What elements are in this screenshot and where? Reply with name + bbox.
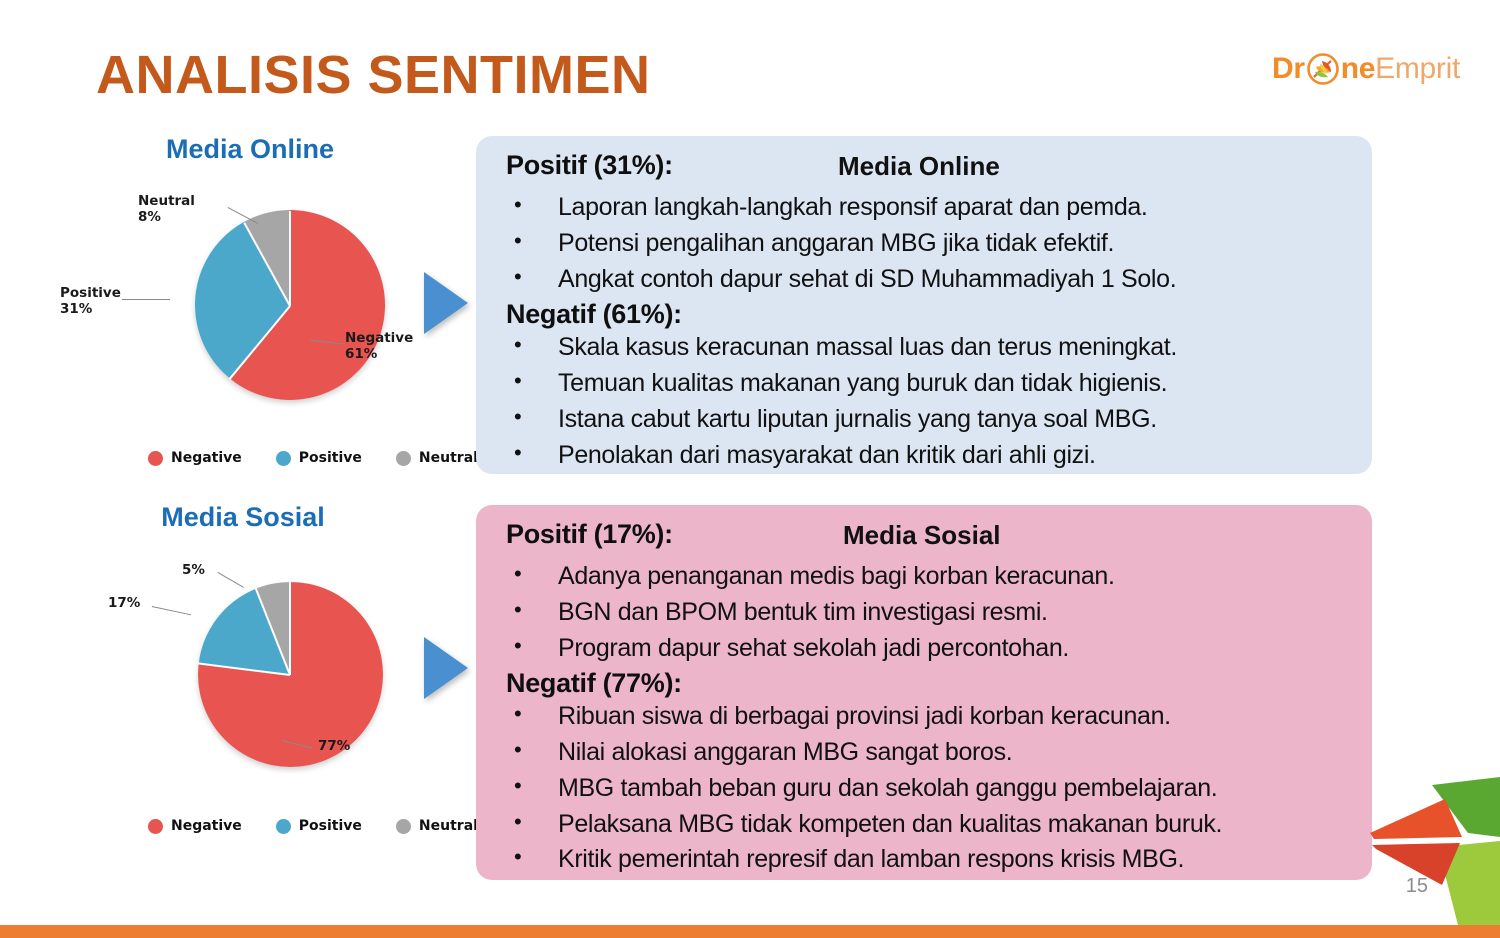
legend-dot-neutral [396,819,411,834]
bottom-accent-bar [0,925,1500,938]
logo-text-emprit: Emprit [1375,52,1460,86]
chart-title-media-sosial: Media Sosial [78,502,408,533]
panel-media-sosial: Positif (17%): Media Sosial Adanya penan… [476,505,1372,880]
legend-label-positive: Positive [299,818,362,834]
list-item: Kritik pemerintah represif dan lamban re… [498,842,1350,878]
legend-label-neutral: Neutral [419,818,478,834]
legend-dot-positive [276,819,291,834]
pie-label-neutral-online: Neutral 8% [138,193,195,226]
arrow-right-icon-sosial [424,637,468,699]
pie-chart-media-online: Neutral 8% Positive 31% Negative 61% Neg… [60,175,460,475]
legend-item-positive: Positive [276,818,362,834]
slide: ANALISIS SENTIMEN Dr ne Emprit Media Onl… [0,0,1500,938]
drone-circle-icon [1306,52,1340,86]
list-item: Laporan langkah-langkah responsif aparat… [498,190,1350,226]
pie-label-positive-online: Positive 31% [60,285,121,318]
page-title: ANALISIS SENTIMEN [96,44,651,106]
panel-media-label-sosial: Media Sosial [843,520,1001,551]
legend-label-negative: Negative [171,450,242,466]
legend-item-neutral: Neutral [396,450,478,466]
legend-media-sosial: Negative Positive Neutral [148,818,478,834]
legend-dot-negative [148,451,163,466]
list-item: Pelaksana MBG tidak kompeten dan kualita… [498,807,1350,843]
legend-item-neutral: Neutral [396,818,478,834]
legend-label-positive: Positive [299,450,362,466]
chart-title-media-online: Media Online [85,134,415,165]
logo-text-ne: ne [1341,52,1375,86]
list-item: Penolakan dari masyarakat dan kritik dar… [498,438,1350,474]
arrow-right-icon-online [424,272,468,334]
legend-media-online: Negative Positive Neutral [148,450,478,466]
panel-media-label-online: Media Online [838,151,1000,182]
pie-label-neutral-sosial: 5% [182,562,205,578]
pie-label-positive-sosial: 17% [108,595,140,611]
list-item: Skala kasus keracunan massal luas dan te… [498,330,1350,366]
pie-label-negative-online: Negative 61% [345,330,413,363]
negative-heading-sosial: Negatif (77%): [506,668,1350,699]
pie-chart-media-sosial: 5% 17% 77% Negative Positive Neutral [60,540,460,840]
negative-heading-online: Negatif (61%): [506,299,1350,330]
list-item: Program dapur sehat sekolah jadi percont… [498,631,1350,667]
legend-dot-negative [148,819,163,834]
list-item: Adanya penanganan medis bagi korban kera… [498,559,1350,595]
legend-dot-positive [276,451,291,466]
list-item: Temuan kualitas makanan yang buruk dan t… [498,366,1350,402]
list-item: Istana cabut kartu liputan jurnalis yang… [498,402,1350,438]
corner-decoration-graphic [1350,775,1500,925]
legend-label-negative: Negative [171,818,242,834]
legend-dot-neutral [396,451,411,466]
leader-line-positive-online [122,299,170,300]
pie-label-negative-sosial: 77% [318,738,350,754]
page-number: 15 [1406,875,1428,898]
legend-item-negative: Negative [148,818,242,834]
positive-heading-sosial: Positif (17%): [506,519,673,550]
list-item: Potensi pengalihan anggaran MBG jika tid… [498,226,1350,262]
legend-item-negative: Negative [148,450,242,466]
positive-points-sosial: Adanya penanganan medis bagi korban kera… [498,559,1350,666]
negative-points-online: Skala kasus keracunan massal luas dan te… [498,330,1350,473]
list-item: MBG tambah beban guru dan sekolah ganggu… [498,771,1350,807]
positive-points-online: Laporan langkah-langkah responsif aparat… [498,190,1350,297]
leader-line-neutral-sosial [218,572,244,588]
legend-item-positive: Positive [276,450,362,466]
legend-label-neutral: Neutral [419,450,478,466]
logo-text-dr: Dr [1272,52,1305,86]
list-item: BGN dan BPOM bentuk tim investigasi resm… [498,595,1350,631]
list-item: Nilai alokasi anggaran MBG sangat boros. [498,735,1350,771]
panel-media-online: Positif (31%): Media Online Laporan lang… [476,136,1372,474]
list-item: Ribuan siswa di berbagai provinsi jadi k… [498,699,1350,735]
positive-heading-online: Positif (31%): [506,150,673,181]
leader-line-positive-sosial [152,606,191,615]
list-item: Angkat contoh dapur sehat di SD Muhammad… [498,262,1350,298]
drone-emprit-logo: Dr ne Emprit [1272,52,1460,86]
negative-points-sosial: Ribuan siswa di berbagai provinsi jadi k… [498,699,1350,878]
